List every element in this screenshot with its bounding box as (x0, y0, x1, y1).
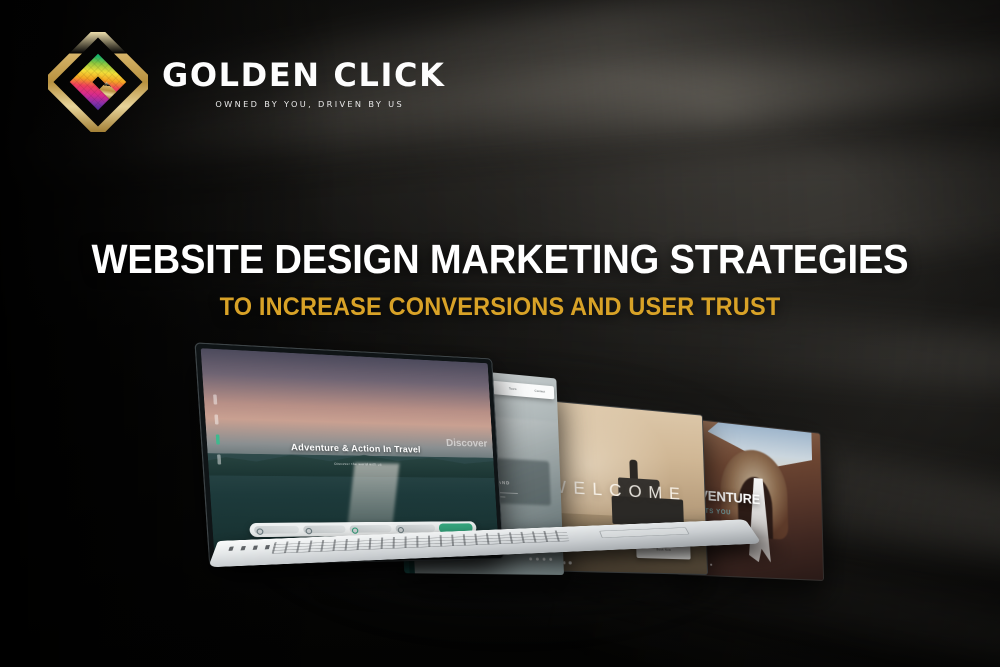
promo-banner: GOLDEN CLICK OWNED BY YOU, DRIVEN BY US … (0, 0, 1000, 667)
laptop-ports (228, 545, 276, 551)
hero-subheadline: TO INCREASE CONVERSIONS AND USER TRUST (30, 294, 970, 321)
screen1-search-labels: Any Location Activity Dates Guests Searc… (0, 0, 1, 1)
screen2-nav-item[interactable]: Tours (509, 387, 517, 392)
brand-logo-lockup[interactable]: GOLDEN CLICK OWNED BY YOU, DRIVEN BY US (48, 32, 445, 132)
laptop-mockup: ADVENTURE AWAITS YOU WELCOME (212, 355, 792, 610)
hero-text-block: WEBSITE DESIGN MARKETING STRATEGIES TO I… (0, 238, 1000, 321)
screen2-nav-item[interactable]: Contact (534, 389, 545, 394)
brand-wordmark: GOLDEN CLICK OWNED BY YOU, DRIVEN BY US (162, 55, 445, 109)
hero-headline: WEBSITE DESIGN MARKETING STRATEGIES (35, 238, 965, 281)
person-on-jeep (629, 460, 638, 480)
brand-name: GOLDEN CLICK (162, 59, 445, 91)
screen1-search-field-any[interactable] (254, 526, 299, 534)
screen1-search-field-activity[interactable] (350, 525, 392, 533)
brand-tagline: OWNED BY YOU, DRIVEN BY US (162, 99, 445, 109)
screen3-card-label: Book Now (656, 547, 671, 552)
golden-diamond-g-logo-icon (48, 32, 148, 132)
screen2-carousel-dots[interactable] (529, 558, 552, 561)
screen1-search-field-location[interactable] (303, 526, 346, 534)
laptop-trackpad[interactable] (599, 527, 690, 538)
